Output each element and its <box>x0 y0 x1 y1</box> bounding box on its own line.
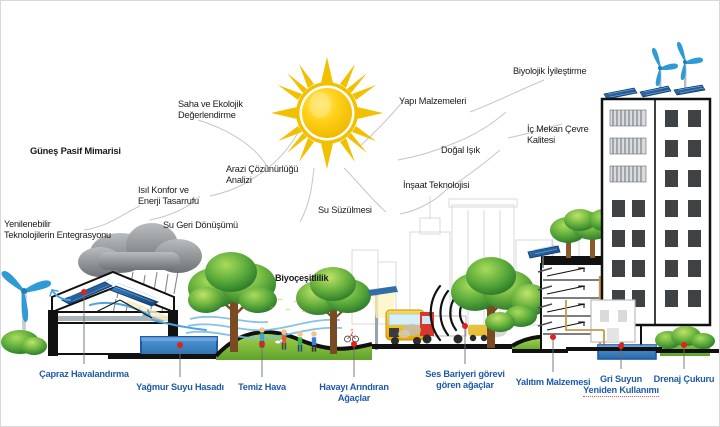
label-gunes-pasif-mimarisi: Güneş Pasif Mimarisi <box>30 145 121 156</box>
label-yapi-malzemeleri: Yapı Malzemeleri <box>399 96 466 107</box>
solar-panel-tower-roof <box>604 85 705 99</box>
wind-turbine-roof-2 <box>677 42 703 90</box>
high-rise-tower <box>602 42 710 325</box>
callout-yalitim-malzemesi: Yalıtım Malzemesi <box>516 377 591 388</box>
small-house <box>591 300 635 342</box>
ground-left <box>108 354 220 359</box>
callout-gri-suyun-yeniden-kullanimi-line1: Gri Suyun <box>583 374 659 385</box>
label-yenilenebilir-teknolojilerin-entegrasyonu: Yenilenebilir Teknolojilerin Entegrasyon… <box>4 219 111 241</box>
label-su-geri-donusumu: Su Geri Dönüşümü <box>163 220 238 231</box>
label-arazi-cozunurlugu-analizi: Arazi Çözünürlüğü Analizi <box>226 164 298 186</box>
label-isil-konfor-ve-enerji-tasarrufu: Isıl Konfor ve Enerji Tasarrufu <box>138 185 199 207</box>
callout-capraz-havalandirma: Çapraz Havalandırma <box>39 369 129 380</box>
callout-gri-suyun-yeniden-kullanimi: Gri SuyunYeniden Kullanımı <box>583 374 659 397</box>
label-biyolojik-iyilestirme: Biyolojik İyileştirme <box>513 66 586 77</box>
label-biyocesitlilik: Biyoçeşitlilik <box>275 273 328 284</box>
callout-temiz-hava: Temiz Hava <box>238 382 286 393</box>
callout-yagmur-suyu-hasadi: Yağmur Suyu Hasadı <box>136 382 224 393</box>
label-insaat-teknolojisi: İnşaat Teknolojisi <box>403 180 469 191</box>
ground-right-a <box>512 349 568 353</box>
callout-gri-suyun-yeniden-kullanimi-line2: Yeniden Kullanımı <box>583 385 659 397</box>
label-ic-mekan-cevre-kalitesi: İç Mekan Çevre Kalitesi <box>527 124 589 146</box>
callout-ses-bariyeri-goren-agaclar: Ses Bariyeri görevi gören ağaçlar <box>425 369 504 391</box>
callout-drenaj-cukuru: Drenaj Çukuru <box>654 374 715 385</box>
sun-icon <box>271 57 383 169</box>
ground-right-b <box>566 347 662 351</box>
label-su-suzulmesi: Su Süzülmesi <box>318 205 372 216</box>
label-dogal-isik: Doğal Işık <box>441 145 480 156</box>
bicycle <box>345 329 359 343</box>
callout-havayi-arindiran-agaclar: Havayı Arındıran Ağaçlar <box>319 382 388 404</box>
wind-turbine-roof-1 <box>652 48 678 90</box>
shrub-left <box>1 330 47 355</box>
ground-right-c <box>656 349 720 353</box>
label-saha-ve-ekolojik-degerlendirme: Saha ve Ekolojik Değerlendirme <box>178 99 243 121</box>
sustainable-urban-design-infographic: Güneş Pasif MimarisiYenilenebilir Teknol… <box>0 0 720 427</box>
